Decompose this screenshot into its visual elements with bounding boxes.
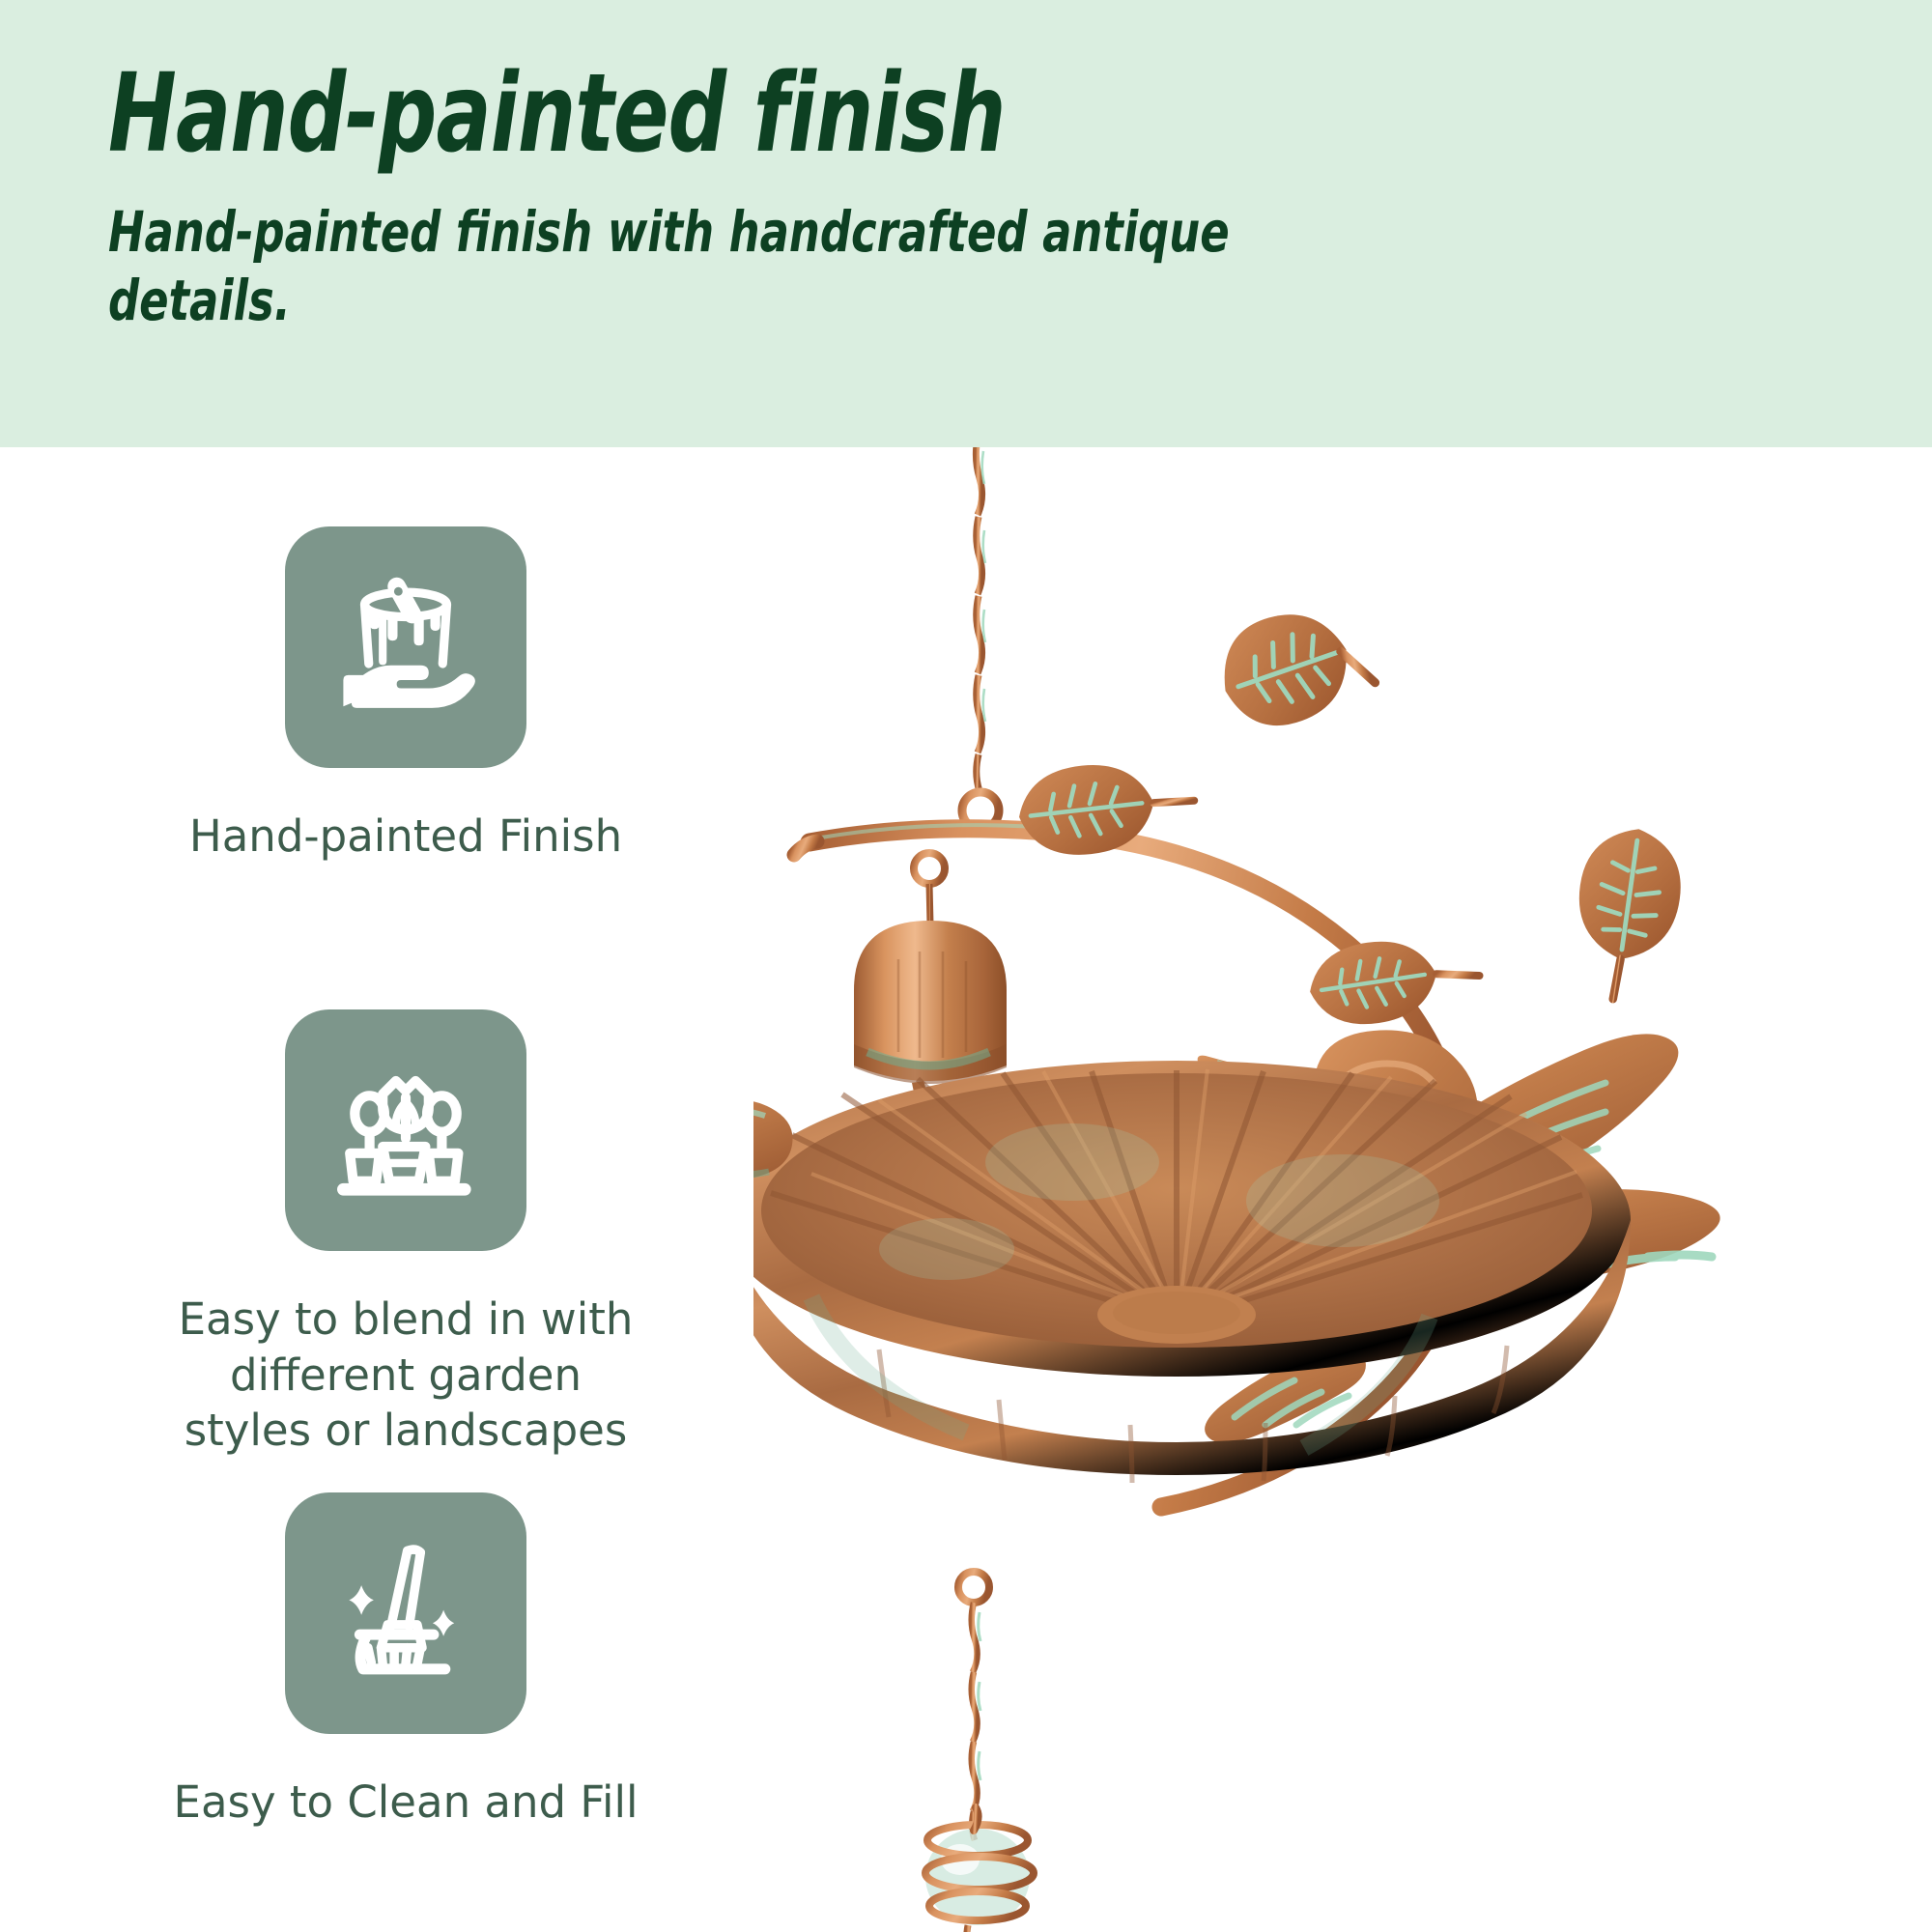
feature-label: Hand-painted Finish — [106, 809, 705, 865]
lower-chain-patina — [979, 1612, 980, 1780]
potted-flowers-icon — [285, 1009, 526, 1251]
feature-item-hand-painted-finish: Hand-painted Finish — [0, 526, 811, 865]
page-title: Hand-painted finish — [108, 56, 1640, 173]
leaf-right-upright — [1565, 822, 1689, 1007]
feature-item-blend-garden-styles: Easy to blend in with different garden s… — [0, 1009, 811, 1459]
infographic-page: Hand-painted finish Hand-painted finish … — [0, 0, 1932, 1932]
leaf-lower-left — [1304, 927, 1484, 1032]
hand-holding-paint-bucket-icon — [285, 526, 526, 768]
product-photo — [753, 447, 1932, 1932]
broom-sparkle-icon — [285, 1492, 526, 1734]
header-band: Hand-painted finish Hand-painted finish … — [0, 0, 1932, 447]
feature-label: Easy to blend in with different garden s… — [106, 1292, 705, 1459]
fluted-copper-bowl — [753, 1061, 1631, 1483]
page-subtitle: Hand-painted finish with handcrafted ant… — [108, 198, 1230, 335]
bell-hanger — [914, 853, 945, 924]
wire-wrapped-glass-ball — [925, 1807, 1034, 1932]
leaf-upper-right — [1208, 592, 1379, 740]
feature-item-easy-clean-fill: Easy to Clean and Fill — [0, 1492, 811, 1831]
lower-chain — [958, 1572, 989, 1840]
branch-tip — [794, 841, 817, 855]
hanging-chain — [976, 447, 981, 791]
feature-label: Easy to Clean and Fill — [106, 1775, 705, 1831]
